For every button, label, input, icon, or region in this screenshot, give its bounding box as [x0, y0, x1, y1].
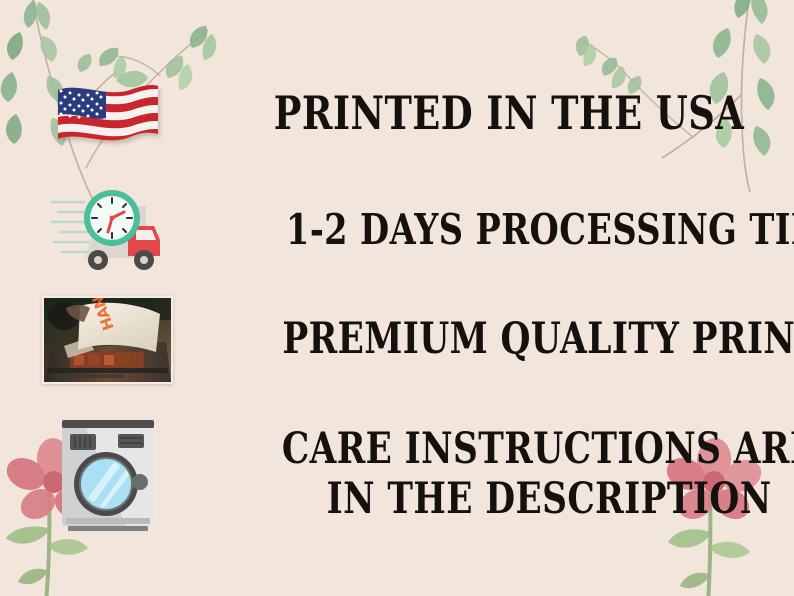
row-icon-cell: [0, 414, 215, 536]
row-text-cell: PREMIUM QUALITY PRINT: [215, 315, 794, 365]
washing-machine-icon: [56, 414, 160, 536]
policy-row-care-instructions: CARE INSTRUCTIONS ARE IN THE DESCRIPTION: [0, 400, 794, 550]
row-icon-cell: HANDMADE: [0, 296, 215, 384]
headline-processing-time: 1-2 DAYS PROCESSING TIME: [286, 206, 794, 255]
clock-face: [84, 190, 140, 246]
policy-row-printed-in-usa: PRINTED IN THE USA: [0, 64, 794, 164]
row-icon-cell: [0, 78, 215, 150]
headline-care-line-2: IN THE DESCRIPTION: [282, 475, 794, 525]
policy-row-processing-time: 1-2 DAYS PROCESSING TIME: [0, 178, 794, 282]
headline-care-line-1: CARE INSTRUCTIONS ARE: [282, 424, 794, 474]
fast-delivery-clock-icon: [50, 182, 166, 278]
headline-printed-in-usa: PRINTED IN THE USA: [274, 87, 744, 140]
row-icon-cell: [0, 182, 215, 278]
policy-row-premium-quality: HANDMADE PREMIUM QUALITY PRINT: [0, 288, 794, 392]
policy-infographic-poster: PRINTED IN THE USA: [0, 0, 794, 596]
usa-flag-icon: [54, 78, 162, 150]
headline-premium-quality: PREMIUM QUALITY PRINT: [282, 315, 794, 365]
row-text-cell: CARE INSTRUCTIONS ARE IN THE DESCRIPTION: [215, 425, 794, 525]
screen-print-photo: HANDMADE: [42, 296, 173, 384]
headline-care-instructions: CARE INSTRUCTIONS ARE IN THE DESCRIPTION: [282, 425, 794, 525]
row-text-cell: 1-2 DAYS PROCESSING TIME: [215, 206, 794, 255]
row-text-cell: PRINTED IN THE USA: [215, 87, 794, 140]
